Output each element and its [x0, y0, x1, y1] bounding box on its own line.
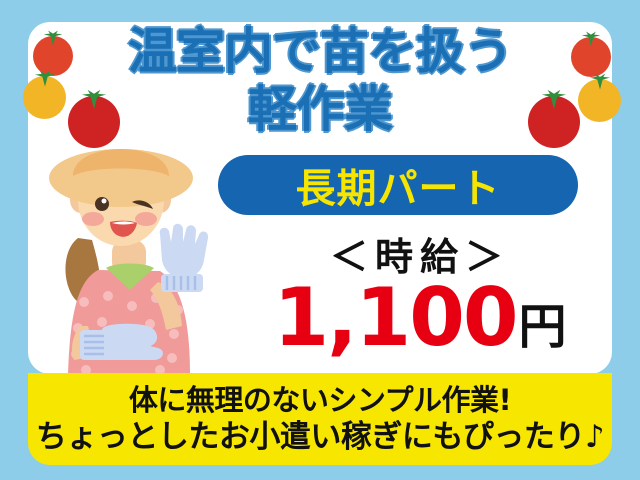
wage-amount: 1,100 — [273, 278, 516, 358]
footer-line-2: ちょっとしたお小遣い稼ぎにもぴったり♪ — [36, 418, 604, 456]
wage-currency-unit: 円 — [519, 296, 567, 358]
headline-line-1: 温室内で苗を扱う — [0, 26, 640, 78]
footer-banner: 体に無理のないシンプル作業! ちょっとしたお小遣い稼ぎにもぴったり♪ — [28, 373, 612, 465]
footer-line-1: 体に無理のないシンプル作業! — [129, 382, 511, 418]
job-ad-poster: 温室内で苗を扱う 軽作業 長期パート ＜時給＞ 1,100 円 体に無理のないシ… — [0, 0, 640, 480]
long-term-part-time-badge: 長期パート — [218, 155, 578, 215]
badge-label: 長期パート — [296, 156, 501, 214]
worker-illustration — [40, 130, 225, 375]
headline-line-2: 軽作業 — [0, 84, 640, 136]
glove-raised — [160, 224, 208, 292]
wage-row: 1,100 円 — [248, 278, 592, 358]
